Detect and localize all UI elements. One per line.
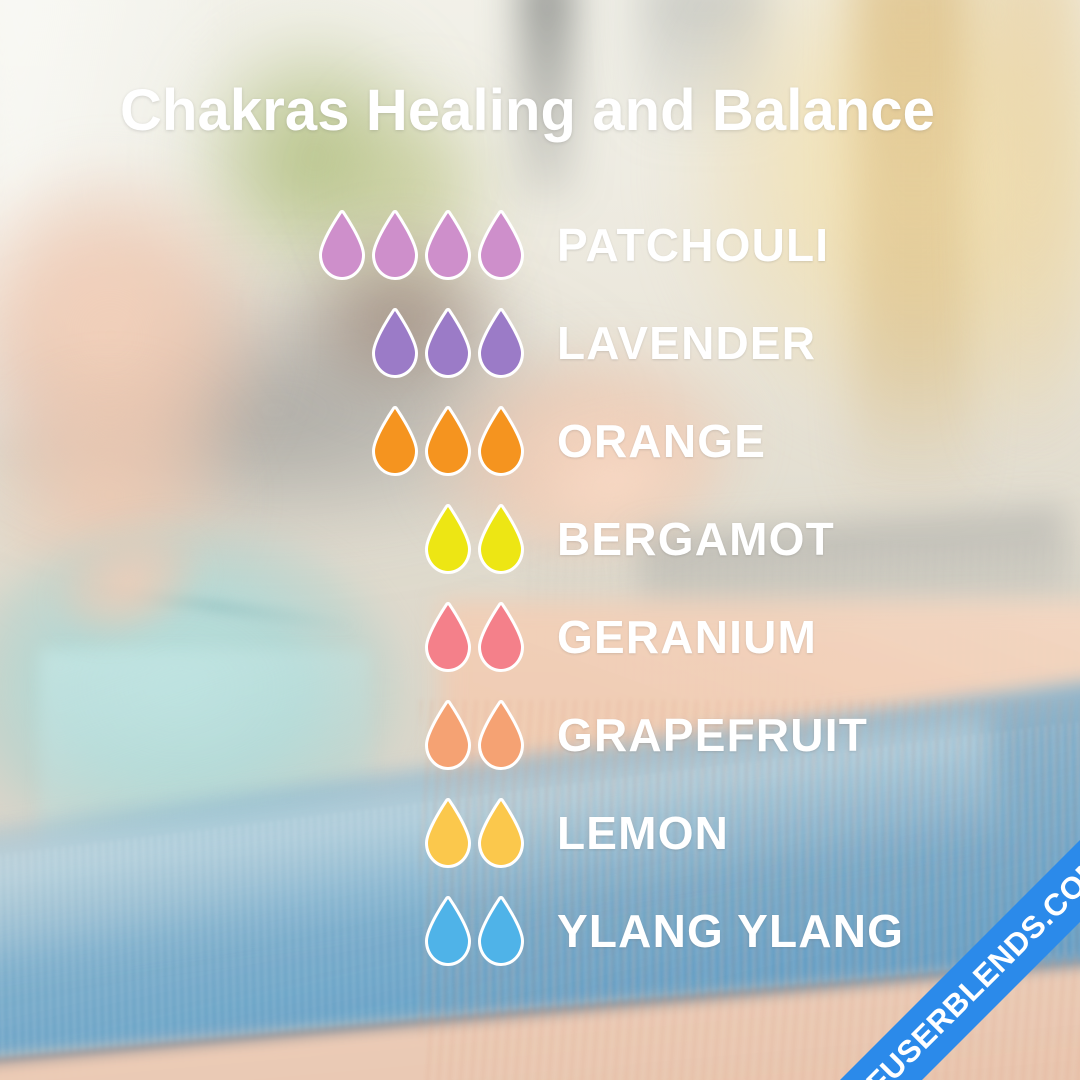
oil-name-label: ORANGE	[557, 418, 766, 464]
oil-drop-icon	[371, 209, 419, 281]
blend-row: LEMON	[0, 784, 1080, 882]
oil-drop-icon	[477, 503, 525, 575]
oil-drop-icon	[318, 209, 366, 281]
oil-drop-icon	[424, 699, 472, 771]
oil-drop-icon	[424, 209, 472, 281]
oil-name-label: LAVENDER	[557, 320, 816, 366]
oil-name-label: GRAPEFRUIT	[557, 712, 868, 758]
oil-drop-icon	[424, 503, 472, 575]
oil-drop-icon	[424, 405, 472, 477]
oil-drop-icon	[477, 307, 525, 379]
oil-drop-icon	[477, 797, 525, 869]
oil-drop-icon	[477, 699, 525, 771]
oil-name-label: GERANIUM	[557, 614, 817, 660]
drop-group	[0, 209, 525, 281]
oil-name-label: PATCHOULI	[557, 222, 829, 268]
oil-drop-icon	[477, 405, 525, 477]
blend-row: PATCHOULI	[0, 196, 1080, 294]
oil-name-label: YLANG YLANG	[557, 908, 904, 954]
blend-list: PATCHOULILAVENDERORANGEBERGAMOTGERANIUMG…	[0, 196, 1080, 980]
oil-drop-icon	[371, 405, 419, 477]
blend-row: GRAPEFRUIT	[0, 686, 1080, 784]
drop-group	[0, 797, 525, 869]
oil-drop-icon	[424, 601, 472, 673]
oil-drop-icon	[371, 307, 419, 379]
oil-drop-icon	[424, 797, 472, 869]
oil-drop-icon	[424, 895, 472, 967]
oil-drop-icon	[477, 601, 525, 673]
blend-row: LAVENDER	[0, 294, 1080, 392]
blend-row: YLANG YLANG	[0, 882, 1080, 980]
oil-drop-icon	[477, 209, 525, 281]
blend-row: ORANGE	[0, 392, 1080, 490]
oil-name-label: LEMON	[557, 810, 729, 856]
oil-drop-icon	[477, 895, 525, 967]
drop-group	[0, 895, 525, 967]
blend-row: BERGAMOT	[0, 490, 1080, 588]
drop-group	[0, 307, 525, 379]
page-title: Chakras Healing and Balance	[120, 82, 935, 140]
poster: Chakras Healing and Balance PATCHOULILAV…	[0, 0, 1080, 1080]
drop-group	[0, 503, 525, 575]
blend-row: GERANIUM	[0, 588, 1080, 686]
drop-group	[0, 405, 525, 477]
oil-drop-icon	[424, 307, 472, 379]
oil-name-label: BERGAMOT	[557, 516, 835, 562]
drop-group	[0, 699, 525, 771]
drop-group	[0, 601, 525, 673]
